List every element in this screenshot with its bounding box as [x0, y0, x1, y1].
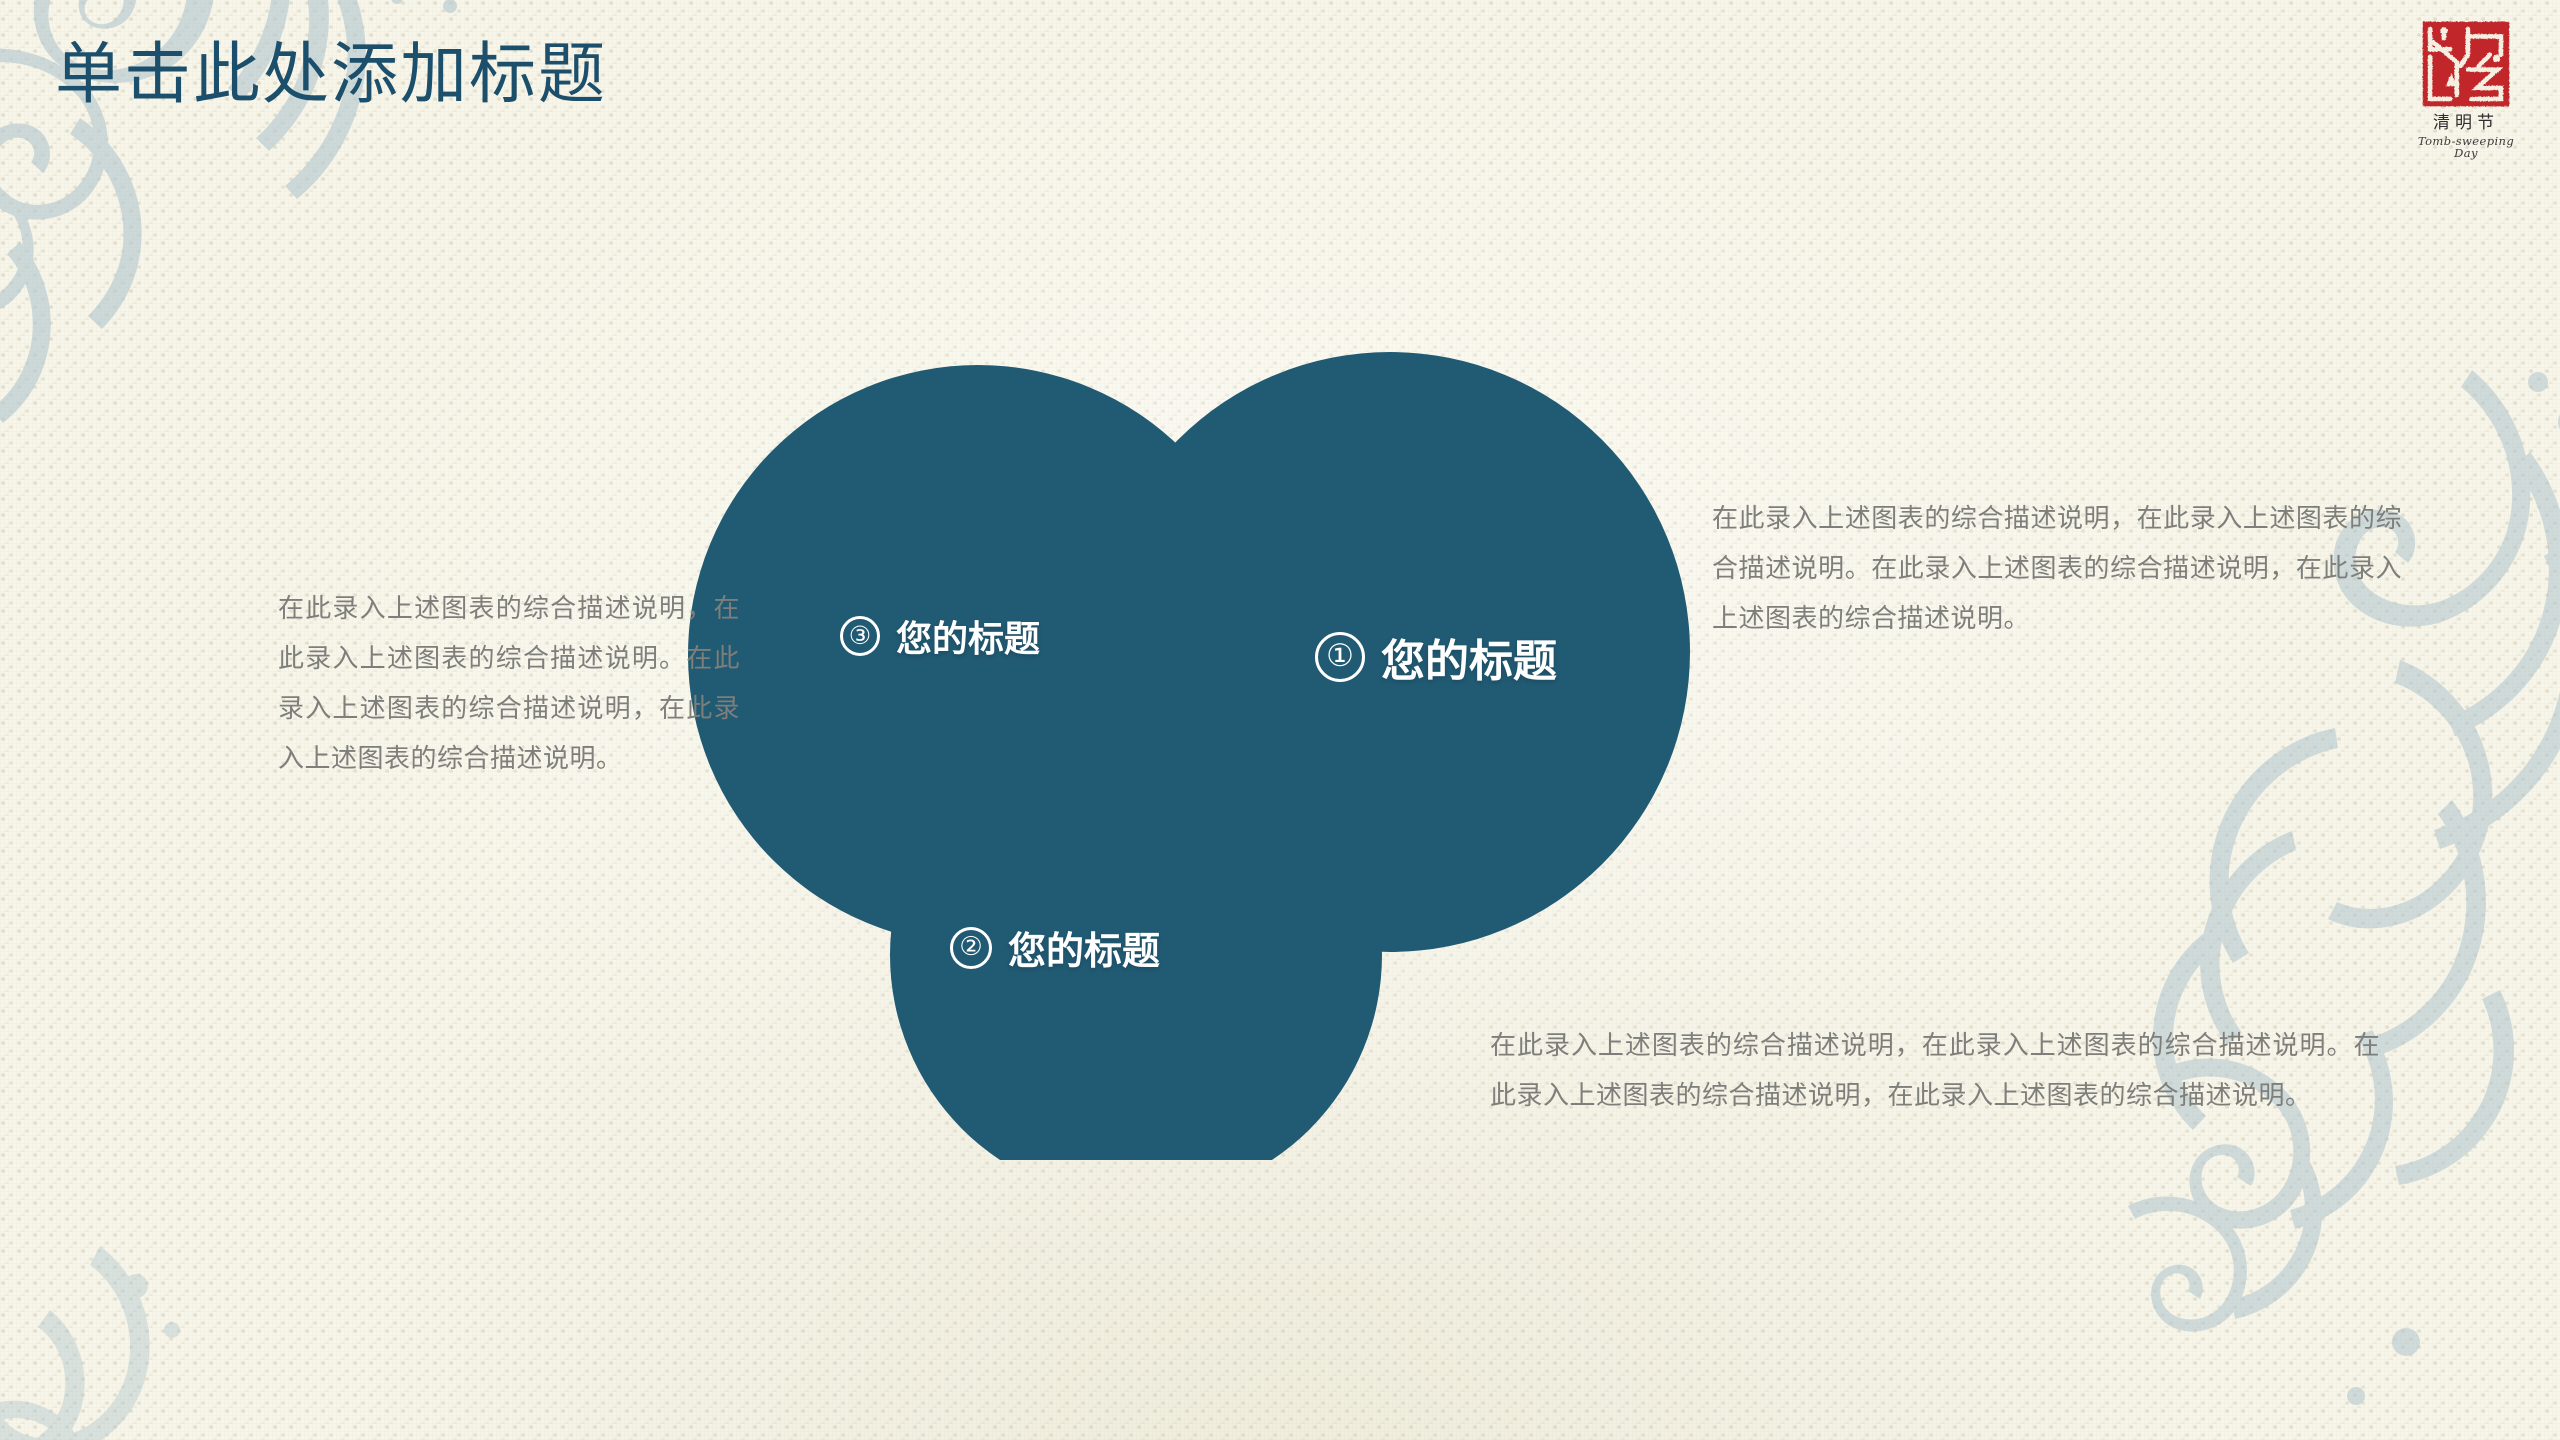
ornament-bottom-left-icon [0, 1220, 240, 1440]
venn-marker-1: ① [1315, 632, 1365, 682]
description-bottom-right[interactable]: 在此录入上述图表的综合描述说明，在此录入上述图表的综合描述说明。在此录入上述图表… [1490, 1022, 2380, 1122]
slide-canvas: 单击此处添加标题 [0, 0, 2560, 1440]
description-top-right[interactable]: 在此录入上述图表的综合描述说明，在此录入上述图表的综合描述说明。在此录入上述图表… [1712, 495, 2402, 645]
venn-marker-3: ③ [840, 616, 880, 656]
venn-label-3[interactable]: ③ 您的标题 [840, 610, 1040, 662]
venn-label-text-1: 您的标题 [1381, 625, 1557, 689]
logo-label-cn: 清明节 [2406, 114, 2526, 133]
brand-logo: 清明节 Tomb-sweeping Day [2406, 18, 2526, 160]
venn-label-2[interactable]: ② 您的标题 [950, 920, 1160, 975]
venn-marker-2: ② [950, 927, 992, 969]
qingming-seal-icon [2420, 18, 2512, 110]
description-left[interactable]: 在此录入上述图表的综合描述说明，在此录入上述图表的综合描述说明。在此录入上述图表… [278, 585, 740, 785]
venn-label-text-3: 您的标题 [896, 610, 1040, 662]
venn-label-1[interactable]: ① 您的标题 [1315, 625, 1557, 689]
page-title: 单击此处添加标题 [55, 33, 607, 117]
venn-label-text-2: 您的标题 [1008, 920, 1160, 975]
logo-label-en: Tomb-sweeping Day [2406, 135, 2526, 160]
